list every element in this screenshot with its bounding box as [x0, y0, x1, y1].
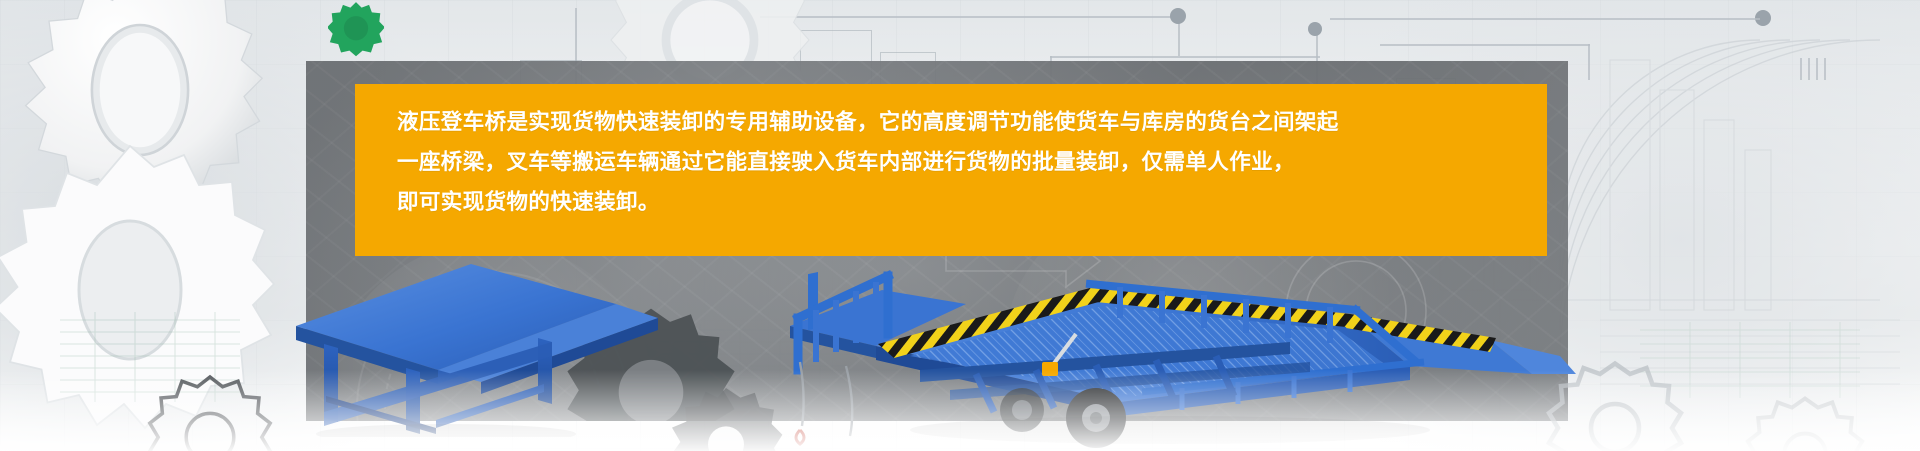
- description-card: 液压登车桥是实现货物快速装卸的专用辅助设备，它的高度调节功能使货车与库房的货台之…: [355, 84, 1547, 256]
- promo-banner: 液压登车桥是实现货物快速装卸的专用辅助设备，它的高度调节功能使货车与库房的货台之…: [0, 0, 1920, 451]
- gear-bottom-mid-dark-icon: [666, 382, 786, 451]
- stationary-dock-leveler-image: [286, 252, 666, 437]
- mobile-yard-ramp-image: [790, 270, 1580, 450]
- gear-bottom-left-outline-icon: [140, 370, 280, 451]
- green-sprocket-icon: [328, 0, 384, 67]
- gear-far-bottom-right-icon: [1740, 392, 1870, 451]
- gear-bottom-right-outline-icon: [1540, 356, 1690, 451]
- description-text: 液压登车桥是实现货物快速装卸的专用辅助设备，它的高度调节功能使货车与库房的货台之…: [397, 102, 1517, 222]
